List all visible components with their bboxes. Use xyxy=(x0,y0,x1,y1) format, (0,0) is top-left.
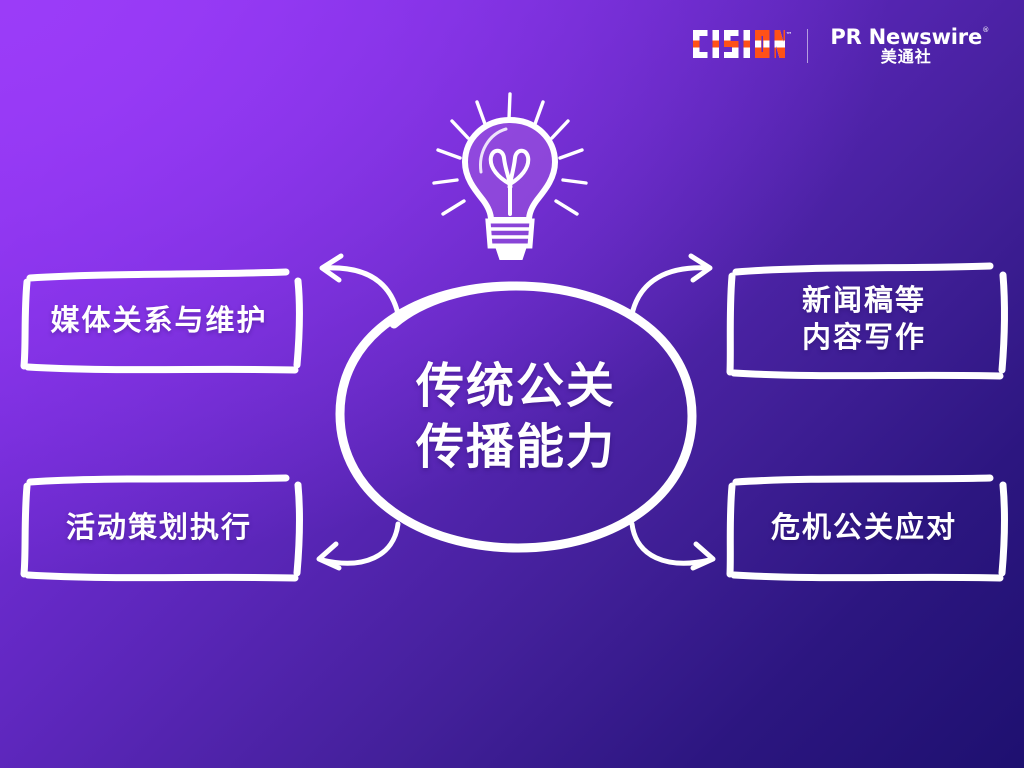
lightbulb-icon xyxy=(421,86,599,264)
pr-newswire-trademark: ® xyxy=(982,27,989,34)
node-media-relations[interactable]: 媒体关系与维护 xyxy=(14,266,304,374)
node-press-release-writing-label: 新闻稿等 内容写作 xyxy=(802,282,926,355)
node-crisis-pr[interactable]: 危机公关应对 xyxy=(718,472,1010,582)
slide-canvas: ™ PR Newswire ® 美通社 xyxy=(0,0,1024,768)
pr-newswire-name: PR Newswire ® xyxy=(830,26,982,48)
pr-newswire-name-text: PR Newswire xyxy=(830,25,982,49)
cision-wordmark-icon xyxy=(693,30,785,58)
cision-trademark: ™ xyxy=(785,32,792,39)
node-event-planning-label: 活动策划执行 xyxy=(66,509,252,546)
pr-newswire-chinese-name: 美通社 xyxy=(881,49,932,66)
node-event-planning[interactable]: 活动策划执行 xyxy=(14,472,304,582)
node-media-relations-label: 媒体关系与维护 xyxy=(50,302,267,339)
brand-divider xyxy=(807,29,808,63)
brand-bar: ™ PR Newswire ® 美通社 xyxy=(693,26,982,66)
pr-newswire-logo: PR Newswire ® 美通社 xyxy=(830,26,982,66)
node-press-release-writing[interactable]: 新闻稿等 内容写作 xyxy=(718,258,1010,380)
oval-outline-icon xyxy=(318,272,714,562)
central-concept: 传统公关 传播能力 xyxy=(318,272,714,562)
cision-logo: ™ xyxy=(693,30,785,62)
node-crisis-pr-label: 危机公关应对 xyxy=(771,509,957,546)
